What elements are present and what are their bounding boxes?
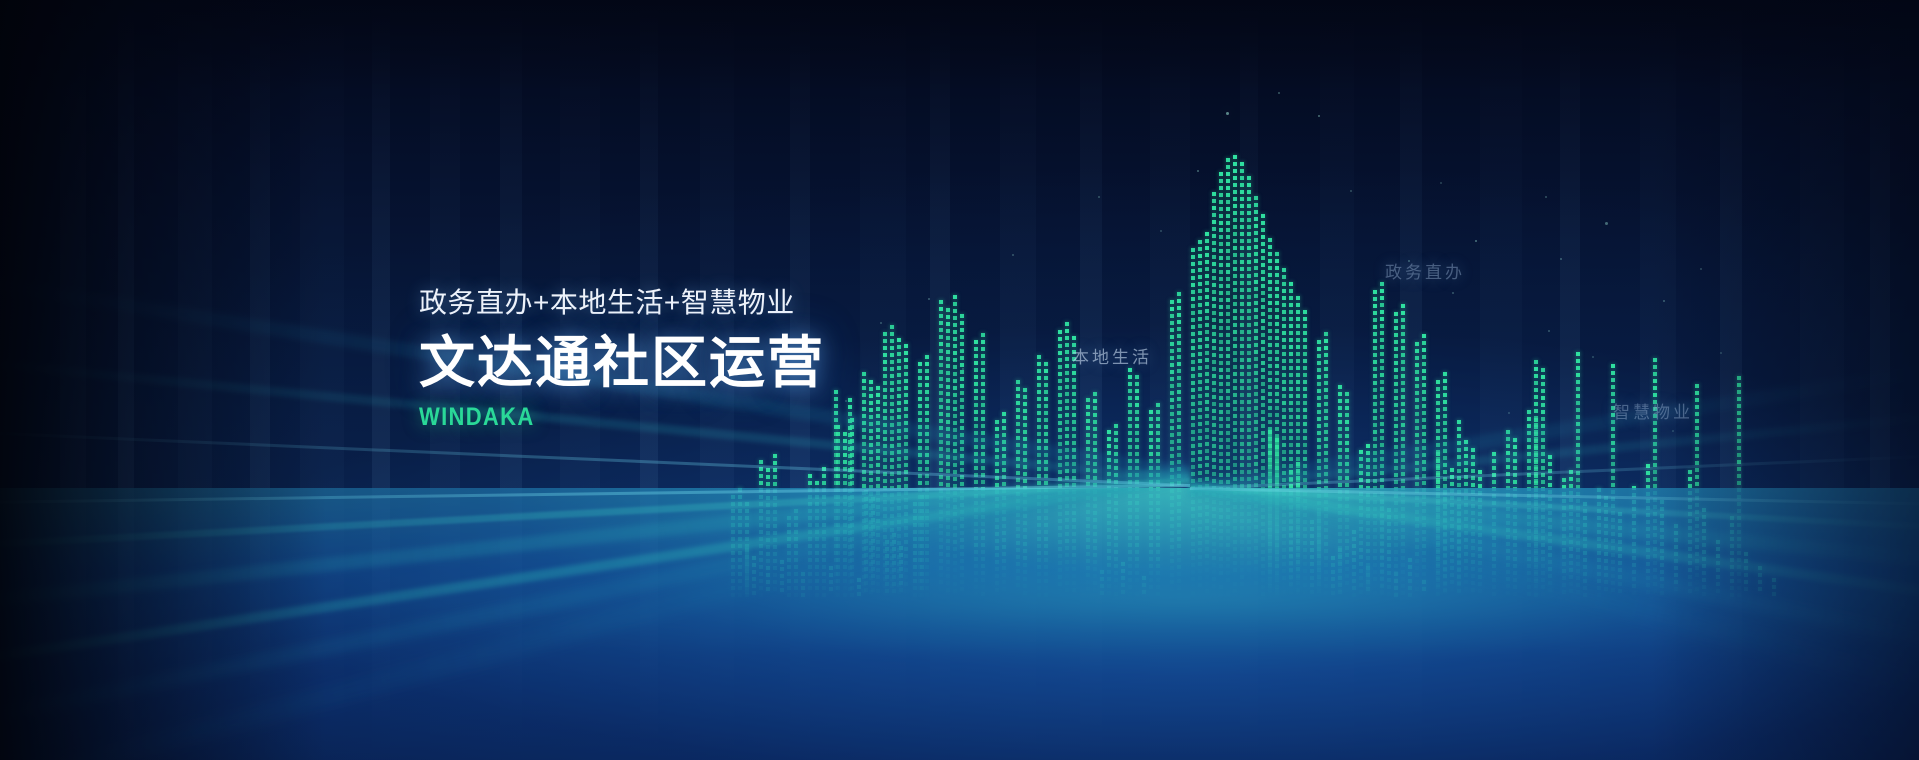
banner-subtitle: 政务直办+本地生活+智慧物业 [419,289,825,317]
sparkle-dot [1288,408,1290,410]
sparkle-dot [1672,430,1674,432]
sparkle-dot [1560,258,1562,260]
sparkle-dot [1720,352,1722,354]
sparkle-dot [1663,300,1665,302]
sparkle-dot [1452,292,1454,294]
sparkle-dot [1700,268,1702,270]
sparkle-dot [928,298,930,300]
banner-title: 文达通社区运营 [419,333,825,393]
sparkle-dot [1545,196,1547,198]
copy-block: 政务直办+本地生活+智慧物业 文达通社区运营 WINDAKA [419,289,825,430]
sparkle-dot [1548,330,1550,332]
sparkle-dot [1012,254,1014,256]
sparkle-dot [1605,222,1608,225]
sparkle-dot [1350,190,1352,192]
perspective-ray [0,456,1190,760]
sparkle-dot [1226,112,1229,115]
sparkle-dot [1318,115,1320,117]
sparkle-dot [962,368,964,370]
sparkle-dot [1508,412,1510,414]
floating-label-2: 本地生活 [1072,343,1152,368]
sparkle-dot [1098,196,1100,198]
sparkle-dot [1475,240,1477,242]
sparkle-dot [1197,170,1199,172]
hero-banner: 政务直办本地生活智慧物业 政务直办+本地生活+智慧物业 文达通社区运营 WIND… [0,0,1919,760]
floating-label-3: 智慧物业 [1613,398,1693,423]
sparkle-dot [845,400,847,402]
sparkle-dot [880,322,882,324]
floating-label-1: 政务直办 [1385,258,1465,283]
perspective-ground-plane [0,488,1919,760]
sparkle-dot [1160,230,1162,232]
brand-wordmark: WINDAKA [419,405,776,430]
sparkle-dot [1278,92,1280,94]
sparkle-dot [1440,182,1442,184]
sparkle-dot [1592,356,1594,358]
